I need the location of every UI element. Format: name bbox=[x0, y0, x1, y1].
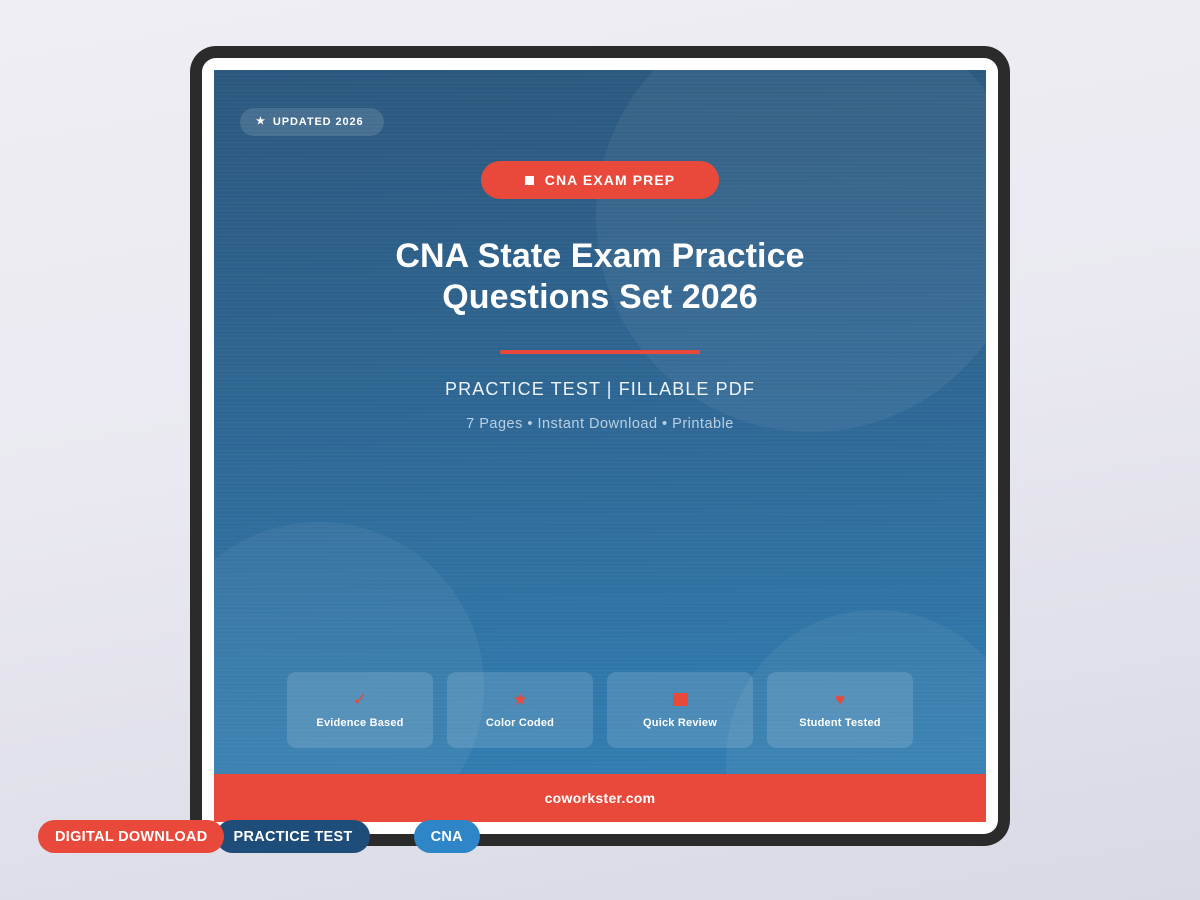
feature-card-quick-review: Quick Review bbox=[607, 672, 753, 748]
category-pill: CNA EXAM PREP bbox=[481, 161, 719, 199]
footer-site-label: coworkster.com bbox=[545, 790, 656, 806]
title-divider bbox=[500, 350, 700, 354]
tag-cna[interactable]: CNA bbox=[414, 820, 480, 853]
feature-card-evidence-based: ✓ Evidence Based bbox=[287, 672, 433, 748]
category-pill-label: CNA EXAM PREP bbox=[545, 172, 675, 188]
feature-card-row: ✓ Evidence Based ★ Color Coded Quick Rev… bbox=[214, 672, 986, 748]
tag-label: DIGITAL DOWNLOAD bbox=[55, 829, 207, 845]
device-frame: ★ UPDATED 2026 CNA EXAM PREP CNA State E… bbox=[190, 46, 1010, 846]
poster-footer: coworkster.com bbox=[214, 774, 986, 822]
feature-card-color-coded: ★ Color Coded bbox=[447, 672, 593, 748]
feature-card-label: Color Coded bbox=[486, 717, 554, 729]
poster-content: CNA EXAM PREP CNA State Exam Practice Qu… bbox=[214, 70, 986, 774]
poster-title: CNA State Exam Practice Questions Set 20… bbox=[320, 236, 880, 319]
feature-card-label: Student Tested bbox=[799, 717, 880, 729]
poster-canvas: ★ UPDATED 2026 CNA EXAM PREP CNA State E… bbox=[214, 70, 986, 822]
feature-card-student-tested: ♥ Student Tested bbox=[767, 672, 913, 748]
tag-label: CNA bbox=[431, 829, 463, 845]
feature-card-label: Quick Review bbox=[643, 717, 717, 729]
tag-label: PRACTICE TEST bbox=[233, 829, 352, 845]
feature-card-label: Evidence Based bbox=[316, 717, 403, 729]
check-icon: ✓ bbox=[353, 692, 367, 708]
square-icon bbox=[673, 692, 688, 708]
tag-strip: DIGITAL DOWNLOAD PRACTICE TEST CNA bbox=[38, 820, 480, 853]
square-icon bbox=[525, 176, 534, 185]
star-icon: ★ bbox=[512, 692, 527, 708]
device-screen: ★ UPDATED 2026 CNA EXAM PREP CNA State E… bbox=[202, 58, 998, 834]
poster-meta: 7 Pages • Instant Download • Printable bbox=[466, 416, 734, 432]
tag-digital-download[interactable]: DIGITAL DOWNLOAD bbox=[38, 820, 224, 853]
poster-subtitle: PRACTICE TEST | FILLABLE PDF bbox=[445, 379, 755, 400]
tag-practice-test[interactable]: PRACTICE TEST bbox=[216, 820, 369, 853]
heart-icon: ♥ bbox=[835, 692, 845, 708]
